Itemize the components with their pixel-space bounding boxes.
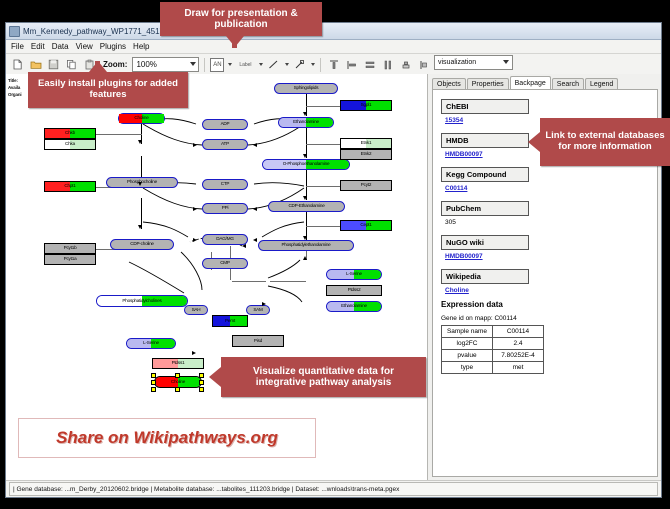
node-ctp[interactable]: CTP (202, 179, 248, 190)
node-label: Phosphatidylethanolamine (281, 243, 330, 248)
chebi-header: ChEBI (441, 99, 529, 114)
node-ethanolamine-bottom[interactable]: Ethanolamine (326, 301, 382, 312)
arrowhead-down (138, 140, 142, 144)
node-choline-top[interactable]: Choline (118, 113, 165, 124)
node-label: CTP (221, 182, 230, 187)
wikipedia-header: Wikipedia (441, 269, 529, 284)
node-adp[interactable]: ADP (202, 119, 248, 130)
handle-se[interactable] (199, 387, 204, 392)
node-l-serine-left[interactable]: L-Serine (126, 338, 176, 349)
expression-row-label: log2FC (442, 338, 493, 350)
node-label: Chpt1 (64, 184, 75, 189)
node-label: SAM (253, 308, 262, 313)
node-sah[interactable]: SAH (184, 305, 208, 315)
node-sam[interactable]: SAM (246, 305, 270, 315)
node-label: Phosphocholine (127, 180, 157, 185)
statusbar-text: | Gene database: ...m_Derby_20120602.bri… (9, 482, 658, 496)
arrowhead-left-atp (253, 143, 257, 147)
arrowhead-down (303, 196, 307, 200)
callout-external-links: Link to external databases for more info… (540, 118, 670, 166)
align-top-icon[interactable] (326, 57, 341, 72)
visualization-combobox-wrap: visualization (434, 55, 513, 70)
open-folder-icon[interactable] (28, 57, 43, 72)
expression-row-value: 7.80252E-4 (493, 350, 544, 362)
shape-tool-icon[interactable] (292, 57, 307, 72)
node-pcyt2[interactable]: Pcyt2 (340, 180, 392, 191)
node-label: ADP (221, 122, 230, 127)
node-label: Chkb (65, 131, 75, 136)
node-label: L-Serine (143, 341, 159, 346)
screenshot-root: Mm_Kennedy_pathway_WP1771_45176.gpml Fil… (0, 0, 670, 509)
node-label: DAG/MG (216, 237, 233, 242)
new-file-icon[interactable] (10, 57, 25, 72)
node-label: Ptdss2 (348, 288, 361, 293)
shape-chevron-down-icon[interactable] (311, 63, 315, 66)
expression-data-heading: Expression data (441, 300, 653, 309)
line-tool-icon[interactable] (266, 57, 281, 72)
arrowhead-down (138, 225, 142, 229)
node-l-serine-right[interactable]: L-Serine (326, 269, 382, 280)
label-tool-icon[interactable]: Label (235, 57, 255, 72)
gene-id-on-mapp: Gene id on mapp: C00114 (441, 315, 653, 322)
node-pisd[interactable]: Pisd (232, 335, 284, 347)
node-label: CDP-Ethanolamine (288, 204, 324, 209)
group-icon[interactable] (416, 57, 431, 72)
arrowhead-down (303, 154, 307, 158)
window-titlebar: Mm_Kennedy_pathway_WP1771_45176.gpml (6, 23, 661, 40)
toolbar-separator-2 (320, 58, 321, 72)
menu-data[interactable]: Data (52, 42, 69, 51)
pubchem-header: PubChem (441, 201, 529, 216)
node-phosphocholine[interactable]: Phosphocholine (106, 177, 178, 188)
node-ptdss2[interactable]: Ptdss2 (326, 285, 382, 296)
callout-install-plugins: Easily install plugins for added feature… (28, 72, 188, 108)
connector-pcyt2 (306, 186, 342, 187)
menu-view[interactable]: View (76, 42, 93, 51)
chevron-down-icon (190, 62, 196, 66)
arrowhead-down (303, 236, 307, 240)
arrowhead-right-atp (193, 143, 197, 147)
visualization-select-value: visualization (438, 59, 476, 66)
arrowhead-right-ethanolamine (262, 302, 266, 306)
callout-links-stem (534, 137, 542, 147)
node-label: Choline (134, 116, 148, 121)
menu-edit[interactable]: Edit (31, 42, 45, 51)
expression-row-label: pvalue (442, 350, 493, 362)
node-label: SAH (192, 308, 201, 313)
node-chkb[interactable]: Chkb (44, 128, 96, 139)
node-label: Pemt (225, 319, 235, 324)
node-etnk2[interactable]: Etnk2 (340, 149, 392, 160)
node-ethanolamine-top[interactable]: Ethanolamine (278, 117, 334, 128)
distribute-vertical-icon[interactable] (362, 57, 377, 72)
table-row: Sample name C00114 (442, 326, 544, 338)
node-label: O-Phosphoethanolamine (283, 162, 330, 167)
menu-plugins[interactable]: Plugins (100, 42, 126, 51)
callout-share-wikipathways: Share on Wikipathways.org (18, 418, 316, 458)
nugowiki-header: NuGO wiki (441, 235, 529, 250)
node-ppi[interactable]: PPi (202, 203, 248, 214)
connector-chk (96, 134, 142, 135)
node-label: Pcyt2 (361, 183, 372, 188)
node-label: L-Serine (346, 272, 362, 277)
node-cept1[interactable]: Cept1 (340, 220, 392, 231)
arrowhead-left-ppi (253, 207, 257, 211)
node-cmp[interactable]: CMP (202, 258, 248, 269)
pubchem-value: 305 (445, 219, 653, 226)
connector-cept1 (306, 226, 342, 227)
handle-ne[interactable] (199, 373, 204, 378)
handle-s[interactable] (175, 387, 180, 392)
node-pcyt1b[interactable]: Pcyt1b (44, 243, 96, 254)
table-row: log2FC 2.4 (442, 338, 544, 350)
node-chpt1[interactable]: Chpt1 (44, 181, 96, 192)
share-text: Share on Wikipathways.org (56, 428, 278, 448)
zoom-combobox[interactable]: 100% (132, 57, 199, 72)
node-etnk1[interactable]: Etnk1 (340, 138, 392, 149)
node-phosphatidylcholines[interactable]: Phosphatidylcholines (96, 295, 188, 307)
handle-w[interactable] (151, 380, 156, 385)
node-pcyt1a[interactable]: Pcyt1a (44, 254, 96, 265)
callout-visualize-data: Visualize quantitative data for integrat… (221, 357, 426, 397)
arrowhead-right-cmp (193, 238, 197, 242)
datanode-tool-icon[interactable]: AN (210, 58, 224, 72)
visualization-select[interactable]: visualization (434, 55, 513, 70)
node-label: Cept1 (360, 223, 371, 228)
node-label: CDP-choline (130, 242, 154, 247)
handle-n[interactable] (175, 373, 180, 378)
zoom-value: 100% (136, 60, 156, 69)
tab-backpage[interactable]: Backpage (510, 76, 551, 90)
hmdb-header: HMDB (441, 133, 529, 148)
align-left-icon[interactable] (344, 57, 359, 72)
kegg-header: Kegg Compound (441, 167, 529, 182)
arrowhead-down (303, 112, 307, 116)
node-label: Choline (171, 380, 185, 385)
node-label: Etnk2 (361, 152, 372, 157)
node-label: Chka (65, 142, 75, 147)
node-atp[interactable]: ATP (202, 139, 248, 150)
expression-row-label: Sample name (442, 326, 493, 338)
node-label: PPi (222, 206, 229, 211)
handle-e[interactable] (199, 380, 204, 385)
menu-help[interactable]: Help (133, 42, 149, 51)
expression-row-value: met (493, 362, 544, 374)
arrowhead-up-pe (303, 256, 307, 260)
node-o-phosphoethanolamine[interactable]: O-Phosphoethanolamine (262, 159, 350, 170)
connector-sgpl1 (306, 106, 342, 107)
distribute-horizontal-icon[interactable] (380, 57, 395, 72)
expression-row-value: 2.4 (493, 338, 544, 350)
arrowhead-right-ppi (193, 207, 197, 211)
node-label: Pcyt1b (64, 246, 77, 251)
node-label: Ethanolamine (341, 304, 367, 309)
node-ptdss1[interactable]: Ptdss1 (152, 358, 204, 369)
nugowiki-link[interactable]: HMDB00097 (445, 253, 653, 260)
pathvisio-icon (9, 26, 20, 37)
node-label: Sgpl1 (361, 103, 372, 108)
expression-row-label: type (442, 362, 493, 374)
node-chka[interactable]: Chka (44, 139, 96, 150)
node-label: CMP (220, 261, 230, 266)
wikipedia-link[interactable]: Choline (445, 287, 653, 294)
connector-pisd (232, 281, 266, 282)
connector-ptdss2 (270, 281, 306, 282)
arrowhead-left-pemt (242, 244, 246, 248)
menubar: File Edit Data View Plugins Help (6, 40, 661, 54)
datanode-chevron-down-icon[interactable] (228, 63, 232, 66)
node-label: Etnk1 (361, 141, 372, 146)
stack-icon[interactable] (398, 57, 413, 72)
chevron-down-icon (503, 60, 509, 64)
node-label: Pcyt1a (64, 257, 77, 262)
node-pemt[interactable]: Pemt (212, 315, 248, 327)
node-label: Phosphatidylcholines (122, 299, 161, 304)
node-sphingolipids[interactable]: Sphingolipids (274, 83, 338, 94)
node-label: Ethanolamine (293, 120, 319, 125)
expression-table: Sample name C00114 log2FC 2.4 pvalue 7.8… (441, 325, 544, 374)
save-icon[interactable] (46, 57, 61, 72)
callout-draw-for-publication: Draw for presentation & publication (160, 2, 322, 36)
handle-nw[interactable] (151, 373, 156, 378)
arrowhead-left-cmp (253, 238, 257, 242)
node-phosphatidylethanolamine[interactable]: Phosphatidylethanolamine (258, 240, 354, 251)
callout-draw-stem (232, 36, 237, 48)
node-sgpl1[interactable]: Sgpl1 (340, 100, 392, 111)
node-label: ATP (221, 142, 229, 147)
node-label: Ptdss1 (172, 361, 185, 366)
handle-sw[interactable] (151, 387, 156, 392)
kegg-link[interactable]: C00114 (445, 185, 653, 192)
expression-row-value: C00114 (493, 326, 544, 338)
menu-file[interactable]: File (11, 42, 24, 51)
statusbar: | Gene database: ...m_Derby_20120602.bri… (6, 480, 661, 497)
callout-visualize-stem (215, 372, 223, 382)
node-label: Sphingolipids (294, 86, 319, 91)
arrowhead-right-choline-sel (192, 351, 196, 355)
line-chevron-down-icon[interactable] (285, 63, 289, 66)
callout-plugins-stem (95, 61, 100, 73)
connector-etnk (306, 144, 342, 145)
node-label: Pisd (254, 339, 262, 344)
toolbar-separator (204, 58, 205, 72)
table-row: pvalue 7.80252E-4 (442, 350, 544, 362)
copy-icon[interactable] (64, 57, 79, 72)
node-cdp-choline[interactable]: CDP-choline (110, 239, 174, 250)
table-row: type met (442, 362, 544, 374)
node-cdp-ethanolamine[interactable]: CDP-Ethanolamine (268, 201, 345, 212)
label-chevron-down-icon[interactable] (259, 63, 263, 66)
